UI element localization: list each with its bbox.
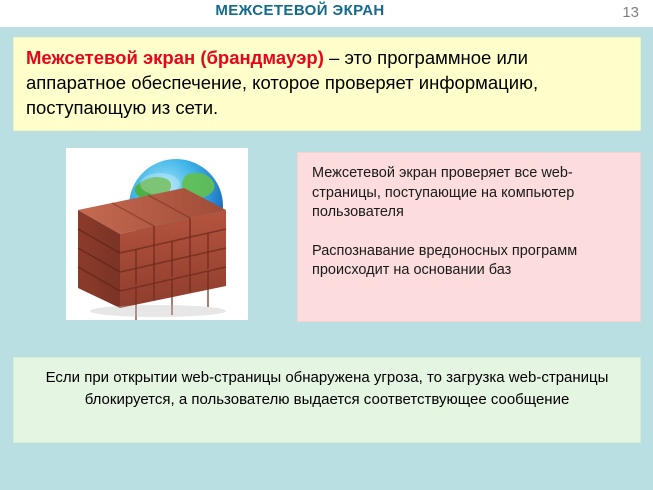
slide-header: МЕЖСЕТЕВОЙ ЭКРАН 13 xyxy=(0,0,653,27)
definition-text: Межсетевой экран (брандмауэр) – это прог… xyxy=(26,45,631,120)
definition-term: Межсетевой экран (брандмауэр) xyxy=(26,47,324,68)
definition-callout: Межсетевой экран (брандмауэр) – это прог… xyxy=(13,37,641,131)
conclusion-text: Если при открытии web-страницы обнаружен… xyxy=(28,367,626,411)
page-title: МЕЖСЕТЕВОЙ ЭКРАН xyxy=(0,2,600,19)
explanation-paragraph-1: Межсетевой экран проверяет все web-стран… xyxy=(312,164,630,223)
slide: МЕЖСЕТЕВОЙ ЭКРАН 13 Межсетевой экран (бр… xyxy=(0,0,653,490)
page-number: 13 xyxy=(622,4,639,21)
firewall-brick-wall-globe-icon xyxy=(66,148,248,320)
explanation-callout: Межсетевой экран проверяет все web-стран… xyxy=(297,152,641,322)
firewall-illustration xyxy=(66,148,248,320)
conclusion-callout: Если при открытии web-страницы обнаружен… xyxy=(13,357,641,443)
explanation-paragraph-2: Распознавание вредоносных программ проис… xyxy=(312,242,630,281)
